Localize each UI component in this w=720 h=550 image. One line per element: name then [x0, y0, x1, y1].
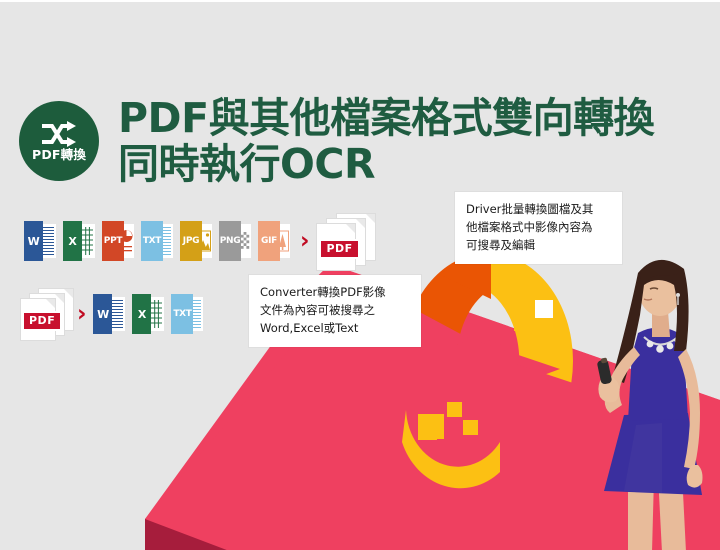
file-page	[41, 224, 56, 258]
page-lines	[112, 300, 123, 328]
excel-file-icon[interactable]: X	[132, 294, 162, 334]
pdf-badge-label: PDF	[22, 311, 62, 331]
callout-line: 文件為內容可被搜尋之	[260, 302, 410, 320]
file-label: TXT	[171, 294, 193, 334]
page-title-line-2: 同時執行OCR	[118, 141, 654, 187]
callout-driver: Driver批量轉換圖檔及其 他檔案格式中影像內容為 可搜尋及編輯	[455, 192, 622, 264]
file-page	[149, 297, 164, 331]
file-page	[80, 224, 95, 258]
file-label: X	[63, 221, 82, 261]
hero-banner: PDF轉換 PDF與其他檔案格式雙向轉換 同時執行OCR W	[0, 0, 720, 550]
page-title: PDF與其他檔案格式雙向轉換 同時執行OCR	[118, 95, 654, 188]
callout-line: Driver批量轉換圖檔及其	[466, 201, 611, 219]
word-file-icon[interactable]: W	[93, 294, 123, 334]
jpg-file-icon[interactable]: JPG	[180, 221, 210, 261]
page-grid	[82, 227, 93, 255]
callout-line: Converter轉換PDF影像	[260, 284, 410, 302]
callout-line: 可搜尋及編輯	[466, 237, 611, 255]
gif-file-icon[interactable]: GIF	[258, 221, 288, 261]
page-title-line-1: PDF與其他檔案格式雙向轉換	[118, 94, 654, 142]
powerpoint-file-icon[interactable]: PPT	[102, 221, 132, 261]
callout-converter: Converter轉換PDF影像 文件為內容可被搜尋之 Word,Excel或T…	[249, 275, 421, 347]
file-label: W	[24, 221, 43, 261]
presenter-photo	[566, 255, 720, 550]
pdf-document-stack[interactable]: PDF	[316, 213, 376, 269]
file-label: PNG	[219, 221, 241, 261]
png-file-icon[interactable]: PNG	[219, 221, 249, 261]
conversion-row-formats-to-pdf: W X	[24, 213, 376, 269]
callout-line: Word,Excel或Text	[260, 320, 410, 338]
file-label: JPG	[180, 221, 202, 261]
file-label: PPT	[102, 221, 124, 261]
pdf-badge-label: PDF	[319, 239, 359, 259]
file-label: X	[132, 294, 151, 334]
file-label: W	[93, 294, 112, 334]
convert-arrow-icon: ›	[77, 303, 86, 326]
pdf-convert-badge[interactable]: PDF轉換	[19, 101, 99, 181]
pdf-document-stack[interactable]: PDF	[20, 288, 74, 340]
file-page	[110, 297, 125, 331]
txt-file-icon[interactable]: TXT	[171, 294, 201, 334]
excel-file-icon[interactable]: X	[63, 221, 93, 261]
file-label: TXT	[141, 221, 163, 261]
convert-arrow-icon: ›	[300, 230, 309, 253]
page-grid	[151, 300, 162, 328]
pdf-convert-badge-label: PDF轉換	[32, 149, 86, 162]
callout-line: 他檔案格式中影像內容為	[466, 219, 611, 237]
shuffle-arrows-icon	[42, 121, 76, 147]
word-file-icon[interactable]: W	[24, 221, 54, 261]
txt-file-icon[interactable]: TXT	[141, 221, 171, 261]
conversion-row-pdf-to-formats: PDF › W	[20, 288, 210, 340]
file-label: GIF	[258, 221, 280, 261]
page-lines	[43, 227, 54, 255]
